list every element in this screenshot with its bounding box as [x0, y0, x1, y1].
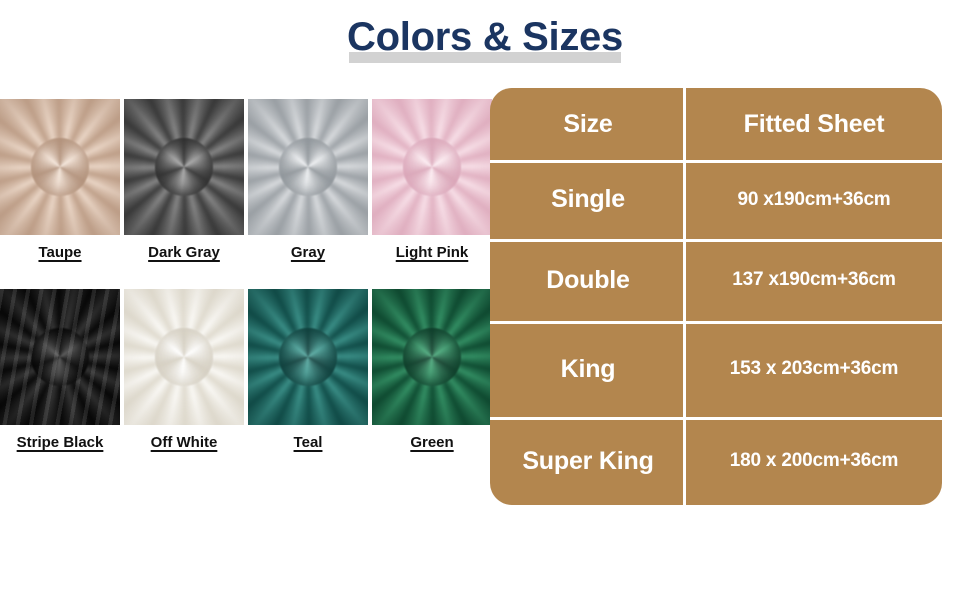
size-dimensions: 90 x190cm+36cm [737, 189, 890, 211]
fabric-sheen-overlay [372, 289, 492, 425]
table-header-row: Size Fitted Sheet [490, 88, 942, 160]
size-dimensions: 180 x 200cm+36cm [730, 450, 898, 472]
swatch-item-off-white[interactable]: Off White [124, 289, 244, 452]
dark-gray-satin-swatch[interactable] [124, 99, 244, 235]
cell-size-name: Single [490, 160, 686, 239]
size-name: Single [551, 185, 625, 214]
swatch-item-teal[interactable]: Teal [248, 289, 368, 452]
table-row: King 153 x 203cm+36cm [490, 321, 942, 417]
off-white-satin-swatch[interactable] [124, 289, 244, 425]
cell-size-name: King [490, 321, 686, 417]
stripe-black-satin-swatch[interactable] [0, 289, 120, 425]
swatch-label: Off White [151, 434, 218, 452]
size-name: King [561, 355, 616, 384]
cell-size-dimensions: 137 x190cm+36cm [686, 239, 942, 321]
fabric-stripe-overlay [0, 289, 120, 425]
size-chart-table: Size Fitted Sheet Single 90 x190cm+36cm … [490, 88, 942, 505]
cell-size-dimensions: 153 x 203cm+36cm [686, 321, 942, 417]
header-label-fitted-sheet: Fitted Sheet [744, 110, 885, 139]
swatch-item-gray[interactable]: Gray [248, 99, 368, 262]
header-label-size: Size [563, 110, 612, 139]
swatch-item-taupe[interactable]: Taupe [0, 99, 120, 262]
teal-satin-swatch[interactable] [248, 289, 368, 425]
page-title-text: Colors & Sizes [347, 12, 623, 62]
swatch-item-stripe-black[interactable]: Stripe Black [0, 289, 120, 452]
fabric-sheen-overlay [372, 99, 492, 235]
fabric-sheen-overlay [248, 99, 368, 235]
table-row: Single 90 x190cm+36cm [490, 160, 942, 239]
swatch-label: Green [410, 434, 453, 452]
page-title: Colors & Sizes [0, 12, 970, 70]
table-row: Super King 180 x 200cm+36cm [490, 417, 942, 505]
swatch-row-2: Stripe Black Off White Teal Green [0, 289, 488, 452]
size-dimensions: 137 x190cm+36cm [732, 269, 895, 291]
swatch-item-green[interactable]: Green [372, 289, 492, 452]
green-satin-swatch[interactable] [372, 289, 492, 425]
gray-satin-swatch[interactable] [248, 99, 368, 235]
swatch-label: Teal [294, 434, 323, 452]
cell-size-name: Super King [490, 417, 686, 505]
size-name: Super King [522, 447, 653, 476]
header-cell-fitted-sheet: Fitted Sheet [686, 88, 942, 160]
light-pink-satin-swatch[interactable] [372, 99, 492, 235]
cell-size-dimensions: 180 x 200cm+36cm [686, 417, 942, 505]
fabric-sheen-overlay [124, 99, 244, 235]
size-dimensions: 153 x 203cm+36cm [730, 358, 898, 380]
swatch-label: Gray [291, 244, 325, 262]
swatch-row-1: Taupe Dark Gray Gray Light Pink [0, 99, 488, 262]
taupe-satin-swatch[interactable] [0, 99, 120, 235]
swatch-label: Stripe Black [17, 434, 104, 452]
swatch-item-light-pink[interactable]: Light Pink [372, 99, 492, 262]
fabric-sheen-overlay [0, 99, 120, 235]
fabric-sheen-overlay [124, 289, 244, 425]
swatch-label: Dark Gray [148, 244, 220, 262]
swatch-item-dark-gray[interactable]: Dark Gray [124, 99, 244, 262]
header-cell-size: Size [490, 88, 686, 160]
swatch-row-spacer [0, 262, 488, 289]
swatch-label: Light Pink [396, 244, 469, 262]
swatch-label: Taupe [38, 244, 81, 262]
table-row: Double 137 x190cm+36cm [490, 239, 942, 321]
fabric-sheen-overlay [248, 289, 368, 425]
color-swatch-grid: Taupe Dark Gray Gray Light Pink S [0, 99, 488, 452]
size-name: Double [546, 266, 630, 295]
cell-size-name: Double [490, 239, 686, 321]
cell-size-dimensions: 90 x190cm+36cm [686, 160, 942, 239]
